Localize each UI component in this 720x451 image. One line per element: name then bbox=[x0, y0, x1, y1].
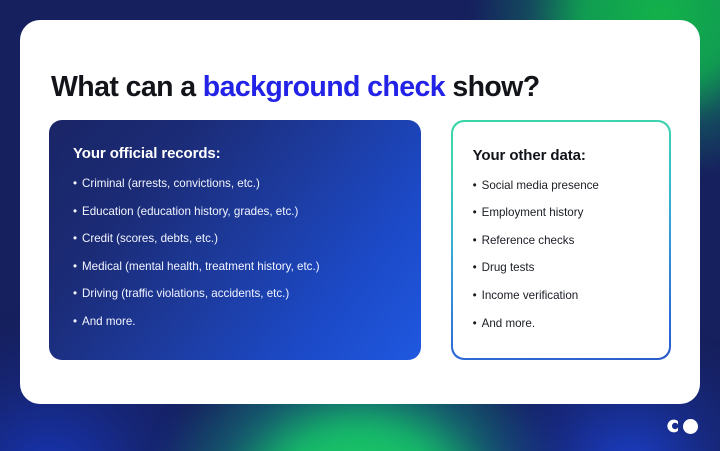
list-item-label: Employment history bbox=[482, 207, 584, 219]
bullet-icon: • bbox=[473, 235, 482, 247]
list-item-label: Credit (scores, debts, etc.) bbox=[82, 233, 218, 245]
list-item: • Credit (scores, debts, etc.) bbox=[73, 233, 397, 245]
cards-row: Your official records: • Criminal (arres… bbox=[49, 120, 671, 360]
bullet-icon: • bbox=[73, 233, 82, 245]
list-item-label: Social media presence bbox=[482, 180, 599, 192]
page-title-accent: background check bbox=[203, 71, 445, 103]
page-title-part-before: What can a bbox=[51, 71, 203, 103]
card-other-data-heading: Your other data: bbox=[473, 147, 650, 164]
list-item-label: And more. bbox=[482, 318, 536, 330]
content-panel: What can a background check show? Your o… bbox=[20, 20, 700, 404]
bullet-icon: • bbox=[473, 207, 482, 219]
list-item-label: Criminal (arrests, convictions, etc.) bbox=[82, 178, 260, 190]
list-item: • Social media presence bbox=[473, 180, 650, 192]
bullet-icon: • bbox=[73, 261, 82, 273]
list-item-label: Drug tests bbox=[482, 262, 535, 274]
bullet-icon: • bbox=[473, 180, 482, 192]
bullet-icon: • bbox=[73, 178, 82, 190]
bullet-icon: • bbox=[473, 318, 482, 330]
list-item: • Education (education history, grades, … bbox=[73, 206, 397, 218]
list-item: • Reference checks bbox=[473, 235, 650, 247]
bullet-icon: • bbox=[473, 290, 482, 302]
card-official-records-heading: Your official records: bbox=[73, 145, 397, 162]
list-item: • Income verification bbox=[473, 290, 650, 302]
page-title-part-after: show? bbox=[445, 71, 540, 103]
list-item: • Employment history bbox=[473, 207, 650, 219]
card-other-data-inner: Your other data: • Social media presence… bbox=[453, 122, 670, 359]
logo-c-icon bbox=[664, 418, 680, 434]
list-item: • And more. bbox=[73, 316, 397, 328]
bullet-icon: • bbox=[73, 316, 82, 328]
list-item: • Criminal (arrests, convictions, etc.) bbox=[73, 178, 397, 190]
list-item-label: Income verification bbox=[482, 290, 579, 302]
list-item-label: Education (education history, grades, et… bbox=[82, 206, 298, 218]
co-logo bbox=[664, 418, 698, 434]
logo-circle-icon bbox=[683, 419, 698, 434]
list-item: • Medical (mental health, treatment hist… bbox=[73, 261, 397, 273]
list-item: • Drug tests bbox=[473, 262, 650, 274]
list-item: • Driving (traffic violations, accidents… bbox=[73, 288, 397, 300]
card-official-records: Your official records: • Criminal (arres… bbox=[49, 120, 421, 360]
list-item-label: Medical (mental health, treatment histor… bbox=[82, 261, 320, 273]
page-title: What can a background check show? bbox=[51, 71, 540, 104]
bullet-icon: • bbox=[73, 288, 82, 300]
list-item-label: Reference checks bbox=[482, 235, 575, 247]
list-item-label: And more. bbox=[82, 316, 136, 328]
infographic-canvas: What can a background check show? Your o… bbox=[0, 0, 720, 451]
list-item-label: Driving (traffic violations, accidents, … bbox=[82, 288, 289, 300]
list-item: • And more. bbox=[473, 318, 650, 330]
card-other-data: Your other data: • Social media presence… bbox=[451, 120, 671, 360]
bullet-icon: • bbox=[473, 262, 482, 274]
bullet-icon: • bbox=[73, 206, 82, 218]
